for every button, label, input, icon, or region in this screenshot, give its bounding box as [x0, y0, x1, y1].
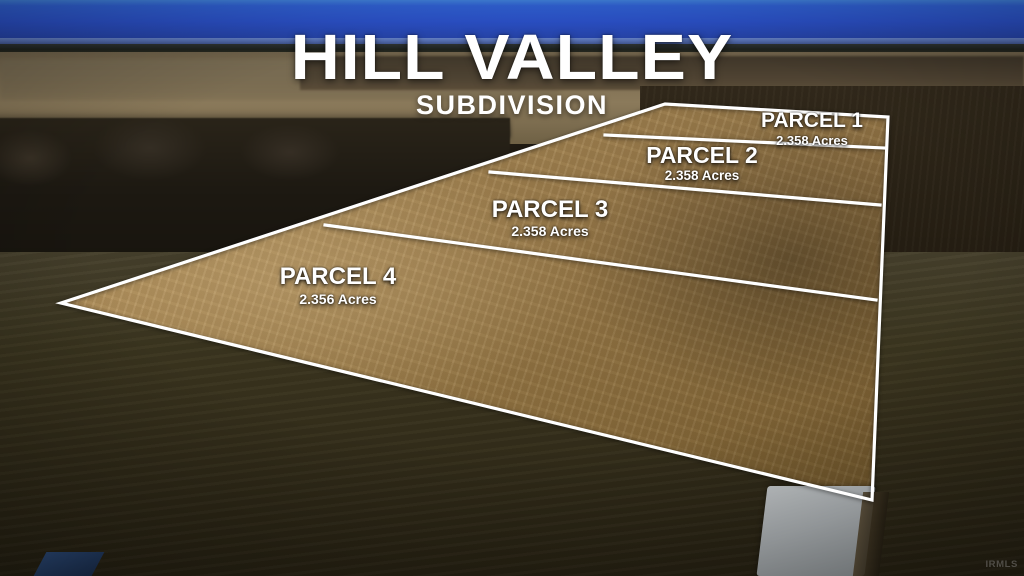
divider-parcel-2-3	[490, 172, 880, 205]
aerial-parcel-map: HILL VALLEY SUBDIVISION PARCEL 1 2.358 A…	[0, 0, 1024, 576]
subdivision-outline	[61, 104, 888, 500]
parcel-boundary-overlay	[0, 0, 1024, 576]
mls-watermark: IRMLS	[985, 559, 1018, 570]
divider-parcel-3-4	[325, 225, 876, 300]
divider-parcel-1-2	[605, 135, 884, 148]
